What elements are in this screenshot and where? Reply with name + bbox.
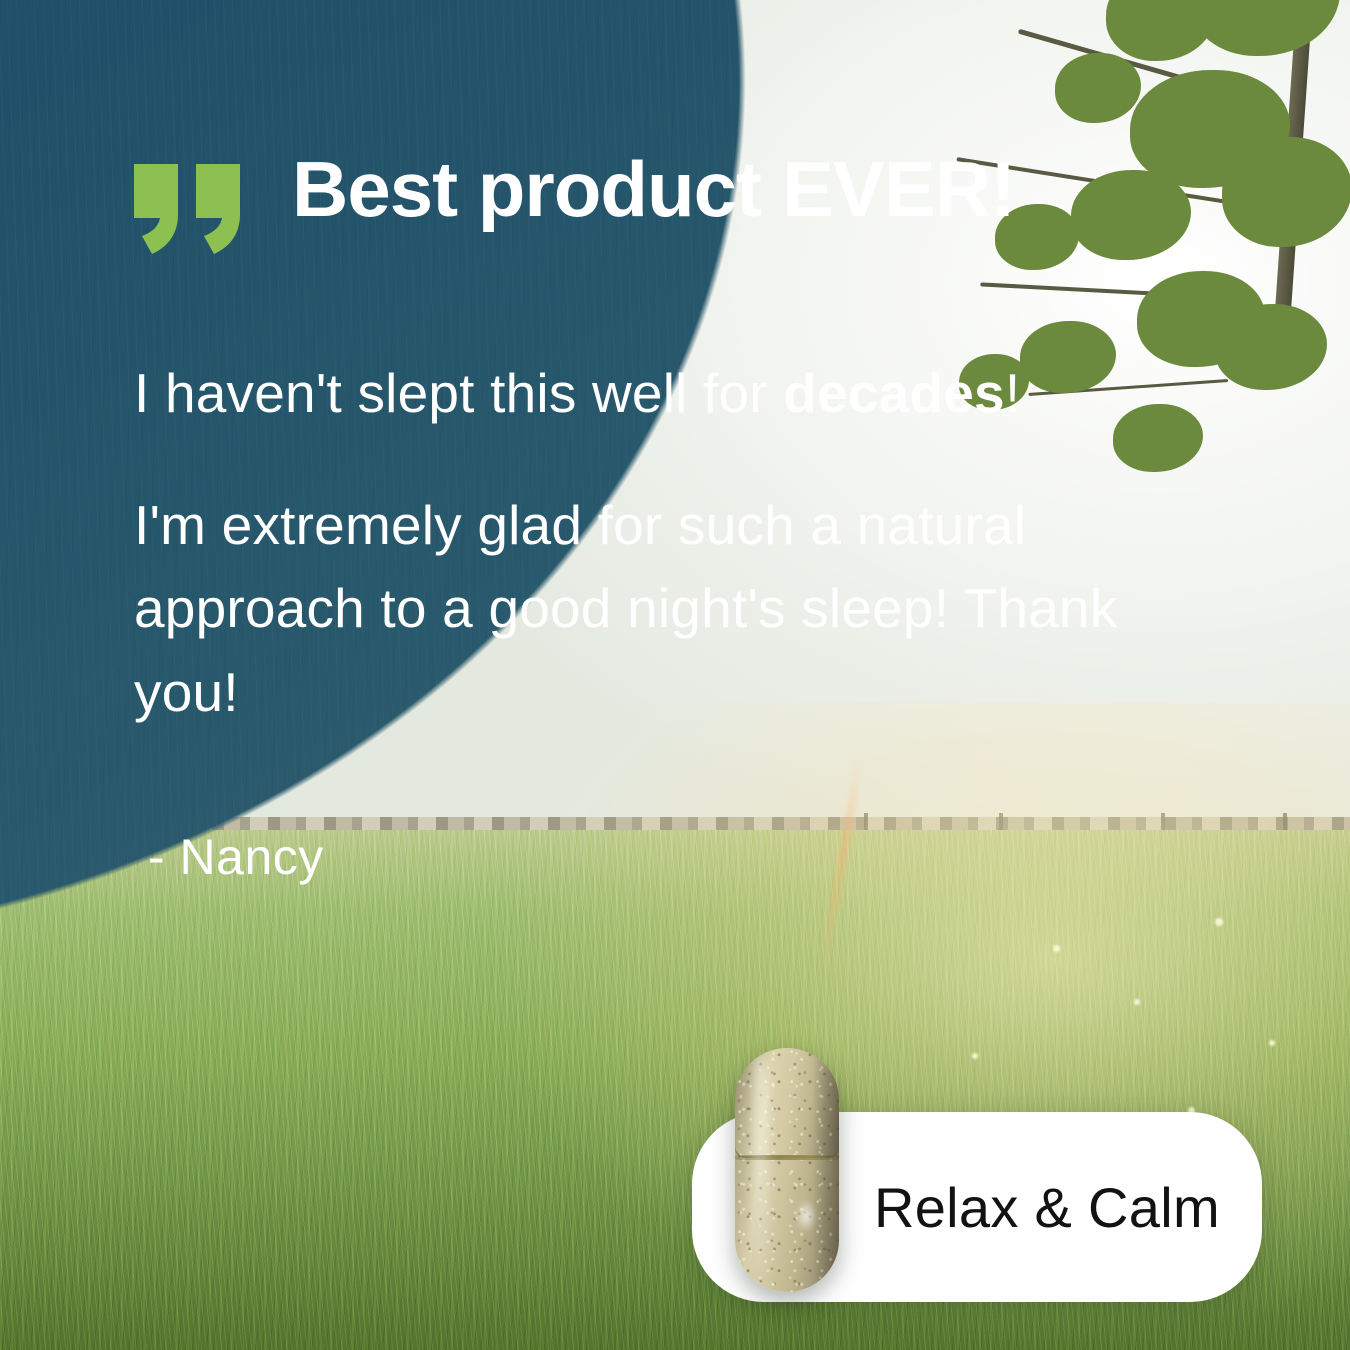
testimonial-attribution: - Nancy (148, 828, 324, 886)
testimonial-paragraph-1: I haven't slept this well for decades! (134, 352, 1194, 436)
card-content: Best product EVER! I haven't slept this … (0, 0, 1350, 1350)
paragraph-1-prefix: I haven't slept this well for (134, 362, 783, 424)
headline-row: Best product EVER! (134, 150, 1015, 256)
paragraph-1-suffix: ! (1005, 362, 1020, 424)
closing-quote-icon (134, 164, 246, 256)
product-badge-label: Relax & Calm (874, 1112, 1220, 1302)
testimonial-paragraph-2: I'm extremely glad for such a natural ap… (134, 484, 1194, 735)
page-title: Best product EVER! (292, 150, 1015, 228)
supplement-capsule-icon (735, 1048, 839, 1292)
testimonial-body: I haven't slept this well for decades! I… (134, 352, 1194, 734)
paragraph-1-emphasis: decades (783, 362, 1005, 424)
capsule-highlight (752, 1053, 770, 1287)
capsule-shadow (812, 1048, 839, 1292)
paragraph-spacer (134, 436, 1194, 484)
testimonial-card: Best product EVER! I haven't slept this … (0, 0, 1350, 1350)
